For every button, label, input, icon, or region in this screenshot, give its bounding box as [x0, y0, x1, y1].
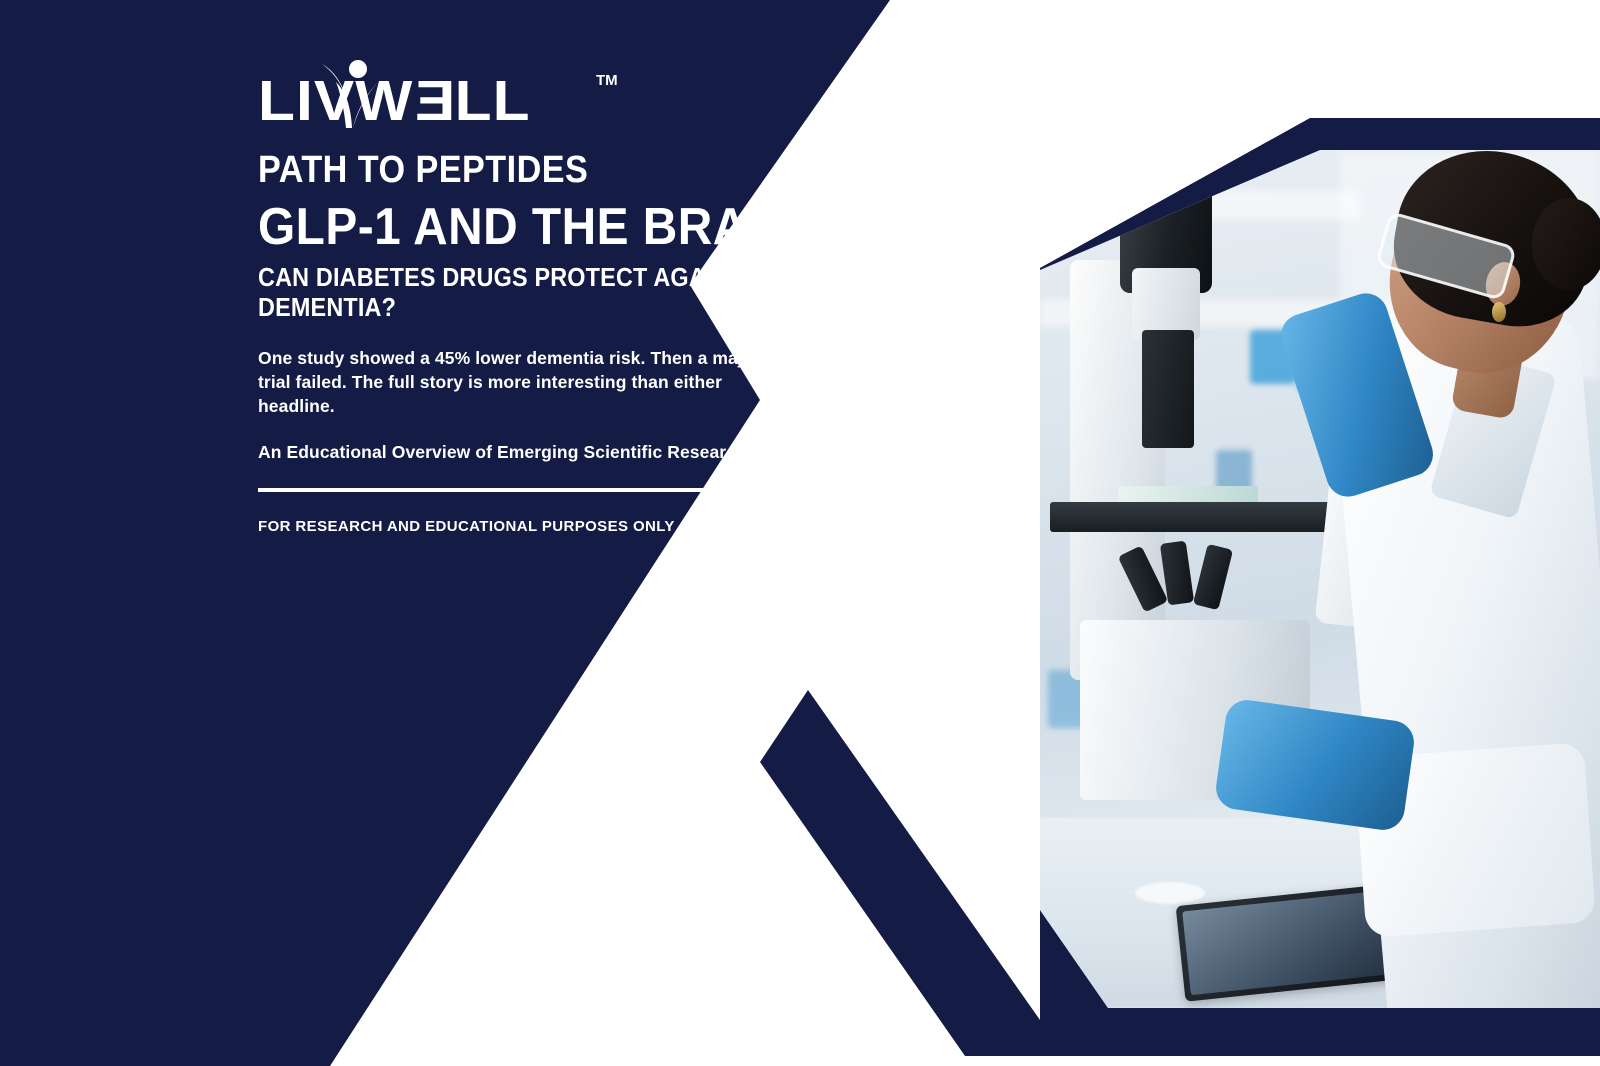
scientist-figure [1340, 150, 1600, 1008]
livewell-logo: LIVWELL TM [258, 70, 898, 136]
logo-part-tail: LL [455, 69, 531, 133]
deck-paragraph: One study showed a 45% lower dementia ri… [258, 346, 778, 418]
kicker-text: An Educational Overview of Emerging Scie… [258, 440, 898, 464]
hero-photo [1040, 150, 1600, 1008]
subtitle: CAN DIABETES DRUGS PROTECT AGAINST DEMEN… [258, 262, 834, 322]
trademark-symbol: TM [596, 72, 618, 89]
objective-lens [1193, 544, 1233, 610]
disclaimer-text: FOR RESEARCH AND EDUCATIONAL PURPOSES ON… [258, 518, 898, 535]
page-title: GLP-1 AND THE BRAIN [258, 198, 847, 256]
lab-background [1040, 150, 1600, 1008]
poster-canvas: LIVWELL TM PATH TO PEPTIDES GLP-1 AND TH… [0, 0, 1600, 1066]
divider-rule [258, 488, 721, 492]
eyebrow-text: PATH TO PEPTIDES [258, 148, 834, 192]
microscope-tube [1142, 330, 1194, 448]
logo-reversed-e: E [413, 70, 454, 132]
microscope-stage [1050, 502, 1350, 532]
petri-dish [1135, 882, 1205, 904]
text-column: LIVWELL TM PATH TO PEPTIDES GLP-1 AND TH… [258, 70, 898, 535]
person-swoosh-icon [320, 58, 384, 130]
microscope-objective-turret [1130, 542, 1260, 612]
scientist-earring [1492, 302, 1506, 322]
scientist-hair-bun [1532, 198, 1600, 290]
